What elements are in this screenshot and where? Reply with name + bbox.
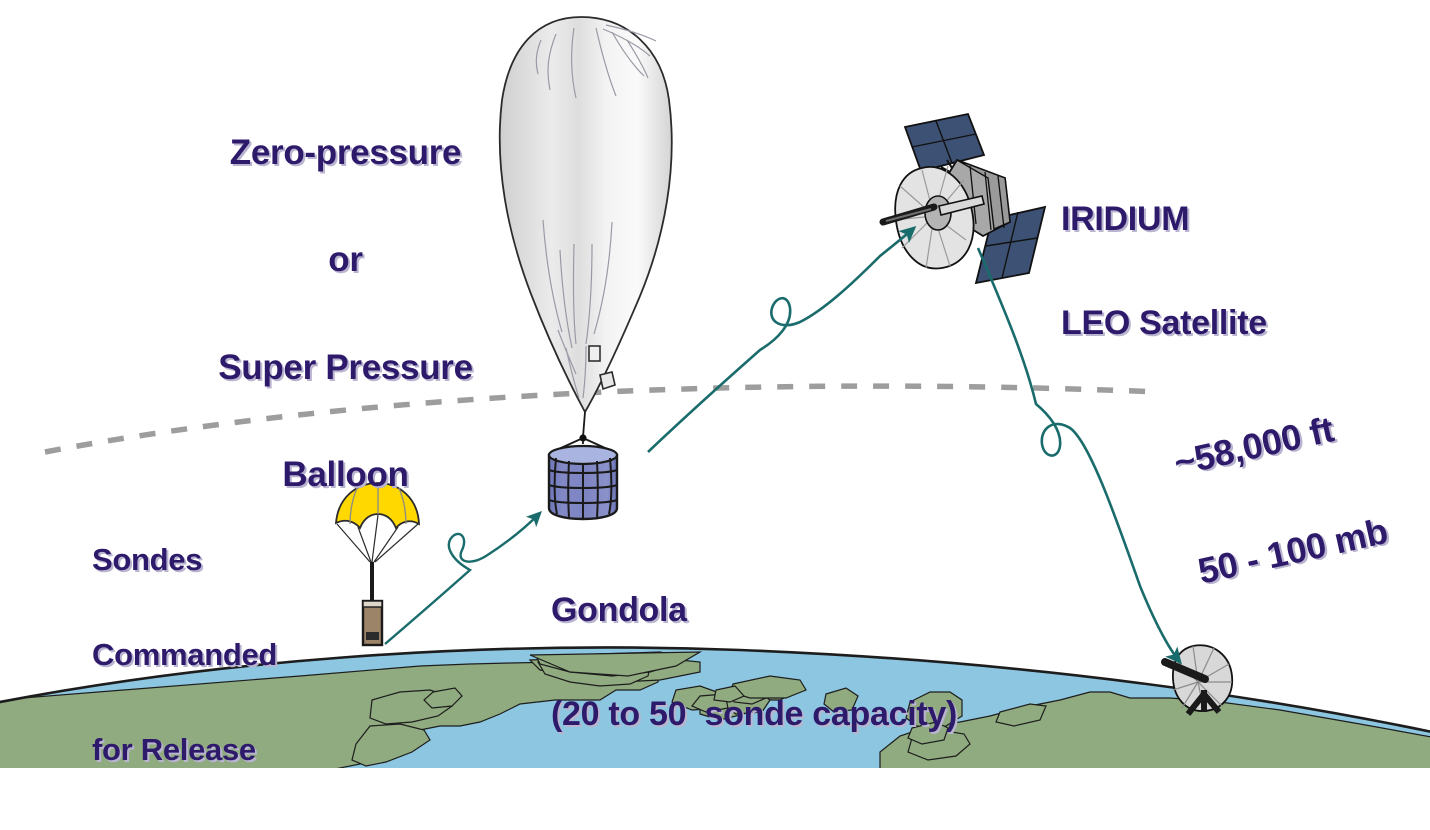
gondola-label: Gondola (20 to 50 sonde capacity) [551,524,957,801]
balloon-tether [583,412,585,437]
iridium-leo-satellite [883,114,1045,283]
gondola-label-line1: Gondola [551,593,957,628]
zero-pressure-balloon [500,17,672,437]
gondola-top-lid [549,446,617,464]
sondes-label-line1: Sondes [92,544,277,576]
gondola-cylinder [549,434,617,519]
gondola-to-satellite-arrow[interactable] [648,228,914,452]
sonde-package-collar [363,601,382,607]
gondola-rigging-knot [579,434,586,441]
balloon-label-line3: Super Pressure [193,350,498,386]
balloon-label-line1: Zero-pressure [193,135,498,171]
sondes-label: Sondes Commanded for Release [92,481,277,829]
satellite-label-line2: LEO Satellite [1061,306,1267,341]
satellite-solar-panel-upper [905,114,984,171]
sonde-sensor-window [366,632,379,640]
diagram-canvas: Zero-pressure or Super Pressure Balloon … [0,0,1430,768]
balloon-valve-box [589,346,600,361]
sondes-label-line2: Commanded [92,639,277,671]
altitude-label-line1: ~58,000 ft [1171,405,1367,483]
sondes-label-line3: for Release [92,734,277,766]
gondola-label-line2: (20 to 50 sonde capacity) [551,697,957,732]
altitude-label-line2: 50 - 100 mb [1195,513,1391,591]
satellite-label-line1: IRIDIUM [1061,202,1267,237]
balloon-label-line2: or [193,242,498,278]
